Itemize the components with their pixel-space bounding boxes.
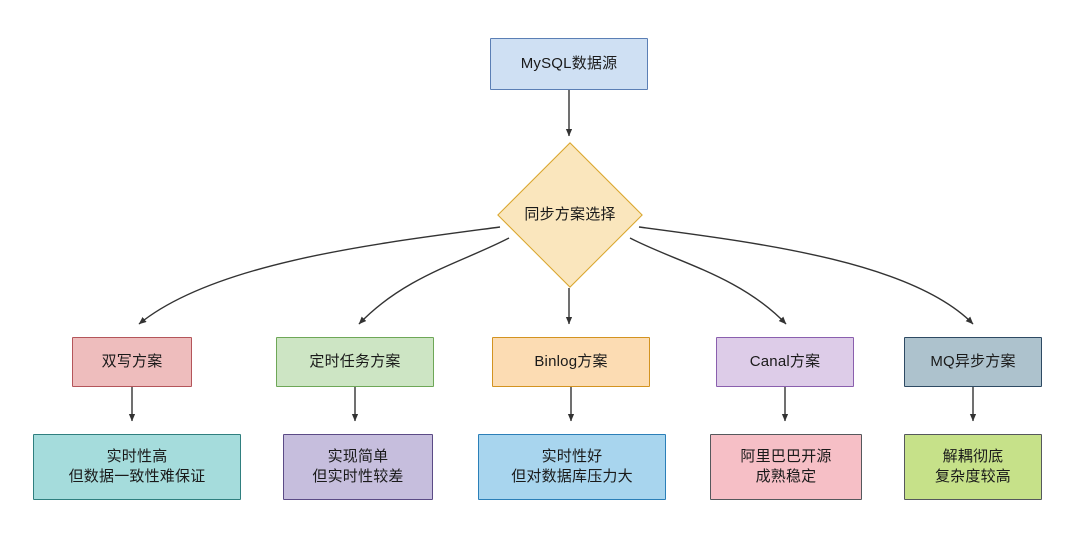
node-option-mq-async[interactable]: MQ异步方案 (904, 337, 1042, 387)
edge-decision-scheduled-task (359, 238, 509, 324)
node-mysql-source[interactable]: MySQL数据源 (490, 38, 648, 90)
node-label: 实时性好 但对数据库压力大 (511, 447, 633, 488)
node-label: Binlog方案 (534, 352, 607, 372)
node-label: 实时性高 但数据一致性难保证 (69, 447, 206, 488)
node-option-binlog[interactable]: Binlog方案 (492, 337, 650, 387)
node-label: 实现简单 但实时性较差 (312, 447, 403, 488)
node-option-scheduled-task[interactable]: 定时任务方案 (276, 337, 434, 387)
node-label: MQ异步方案 (930, 352, 1015, 372)
node-option-dual-write[interactable]: 双写方案 (72, 337, 192, 387)
node-label: 阿里巴巴开源 成熟稳定 (740, 447, 831, 488)
flowchart-canvas: MySQL数据源 同步方案选择 双写方案 定时任务方案 Binlog方案 Can… (0, 0, 1080, 555)
edge-decision-dual-write (139, 227, 500, 324)
node-sync-strategy-decision[interactable]: 同步方案选择 (498, 142, 642, 288)
node-label: 解耦彻底 复杂度较高 (935, 447, 1011, 488)
node-label: 定时任务方案 (309, 352, 400, 372)
node-label: MySQL数据源 (521, 54, 618, 74)
node-note-binlog[interactable]: 实时性好 但对数据库压力大 (478, 434, 666, 500)
node-note-canal[interactable]: 阿里巴巴开源 成熟稳定 (710, 434, 862, 500)
edge-decision-mq-async (639, 227, 973, 324)
node-label: Canal方案 (750, 352, 821, 372)
edge-decision-canal (630, 238, 786, 324)
node-note-mq-async[interactable]: 解耦彻底 复杂度较高 (904, 434, 1042, 500)
node-label: 双写方案 (102, 352, 163, 372)
node-option-canal[interactable]: Canal方案 (716, 337, 854, 387)
node-note-scheduled-task[interactable]: 实现简单 但实时性较差 (283, 434, 433, 500)
node-note-dual-write[interactable]: 实时性高 但数据一致性难保证 (33, 434, 241, 500)
node-label: 同步方案选择 (524, 205, 615, 225)
